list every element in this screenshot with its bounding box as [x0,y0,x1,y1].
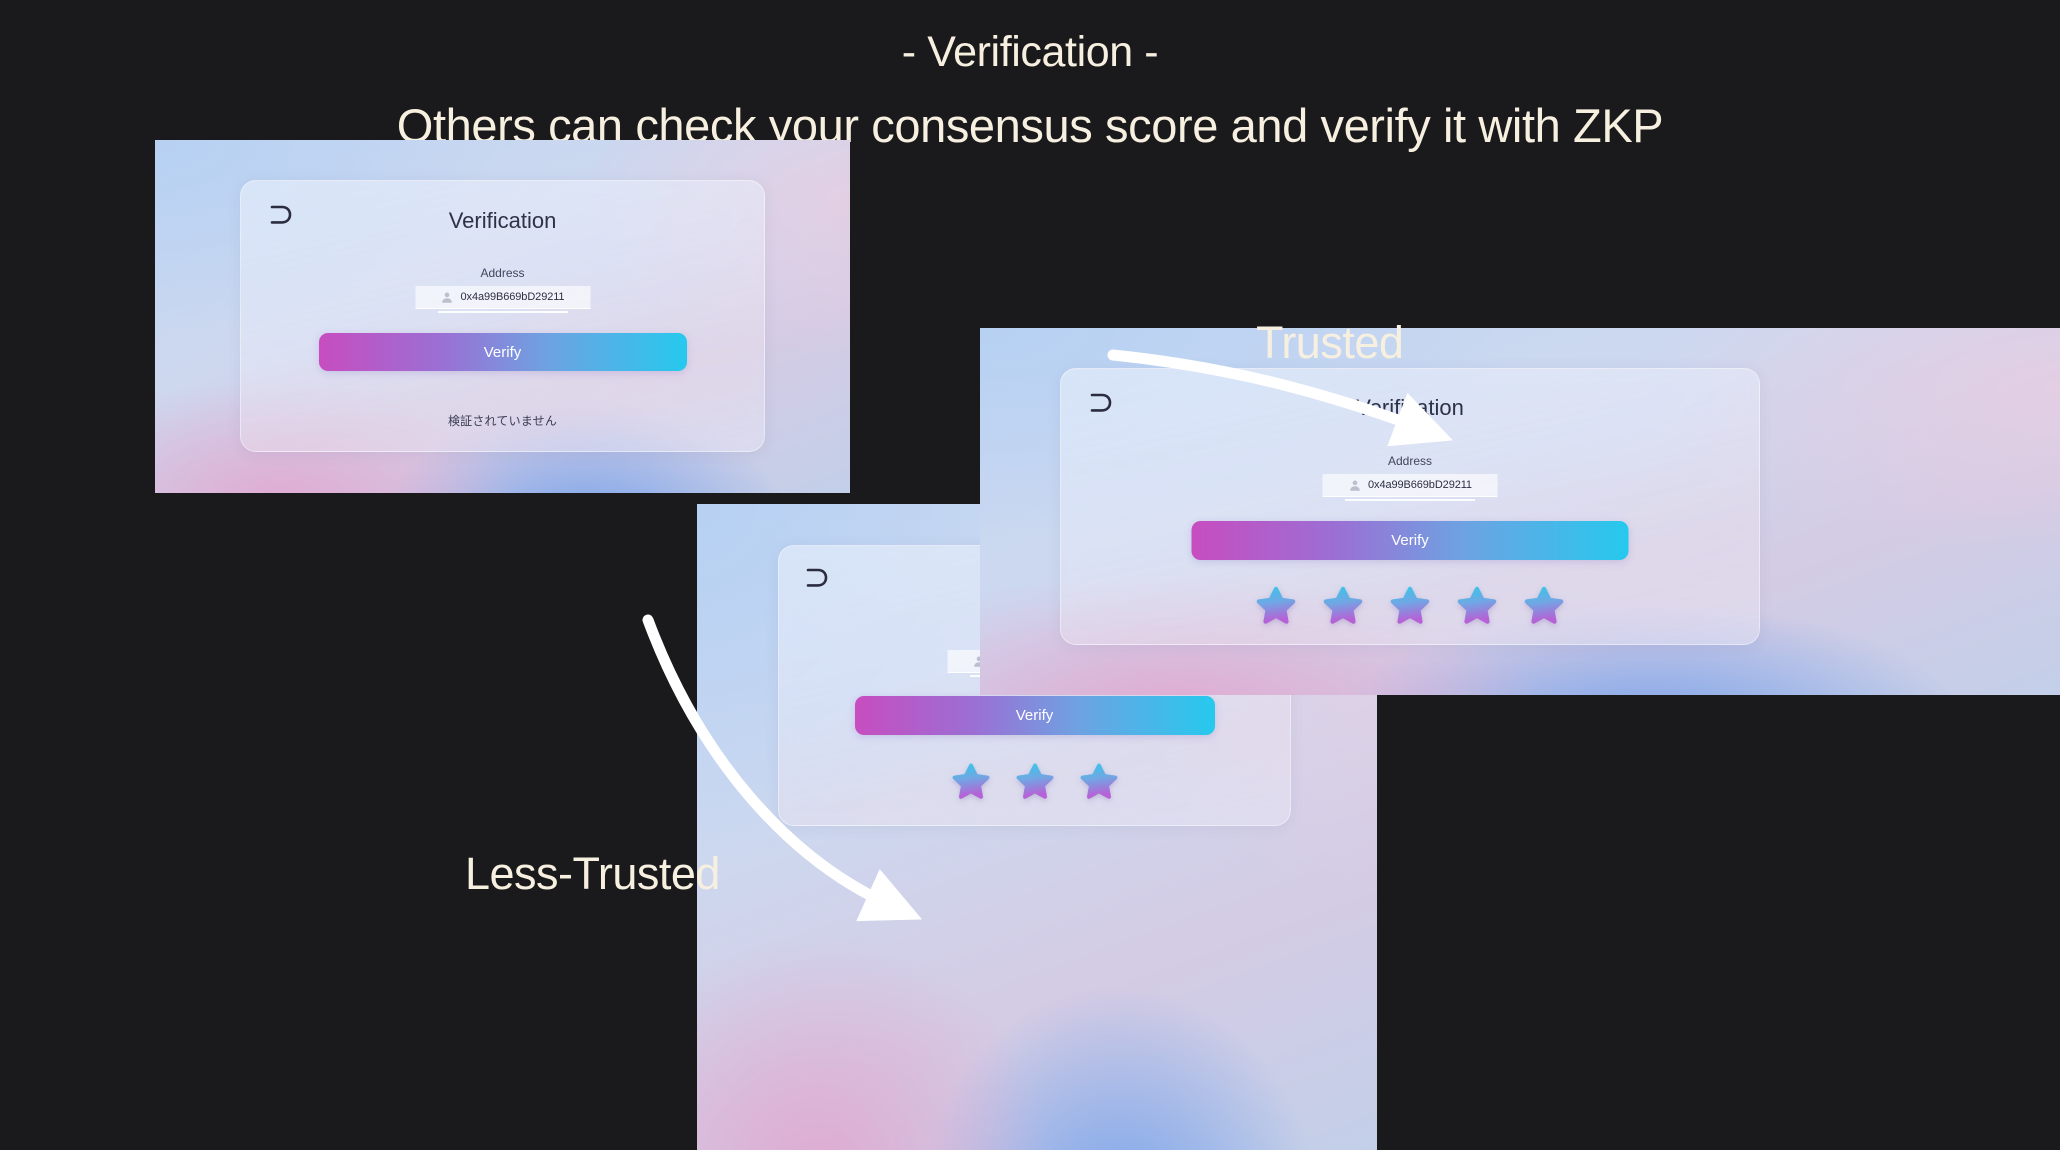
star-icon [1255,583,1297,625]
star-rating-less-trusted [951,760,1119,800]
star-icon [1456,583,1498,625]
trusted-arrow-label: Trusted [1256,317,1403,369]
person-icon [1348,479,1361,492]
star-icon [1322,583,1364,625]
verification-card-unverified: Verification Address 0x4a99B669bD29211 V… [240,180,765,452]
address-input[interactable]: 0x4a99B669bD29211 [415,286,590,309]
verify-button[interactable]: Verify [1192,521,1629,560]
star-rating-trusted [1255,583,1565,625]
verify-button[interactable]: Verify [855,696,1215,735]
less-trusted-arrow-label: Less-Trusted [465,848,720,900]
address-value: 0x4a99B669bD29211 [1368,479,1472,491]
address-value: 0x4a99B669bD29211 [461,291,565,303]
address-input[interactable]: 0x4a99B669bD29211 [1323,474,1498,497]
address-label: Address [1061,454,1759,468]
address-underline [1345,499,1475,501]
star-icon [1015,760,1055,800]
star-icon [1389,583,1431,625]
card-title: Verification [1061,395,1759,421]
person-icon [441,291,454,304]
verification-card-trusted: Verification Address 0x4a99B669bD29211 V… [1060,368,1760,645]
verification-status: 検証されていません [241,412,764,429]
page-title: - Verification - [0,28,2060,77]
star-icon [1079,760,1119,800]
star-icon [1523,583,1565,625]
verify-button[interactable]: Verify [319,333,687,371]
slide-canvas: - Verification - Others can check your c… [0,0,2060,1150]
card-title: Verification [241,208,764,234]
address-underline [438,311,568,313]
star-icon [951,760,991,800]
address-label: Address [241,266,764,280]
